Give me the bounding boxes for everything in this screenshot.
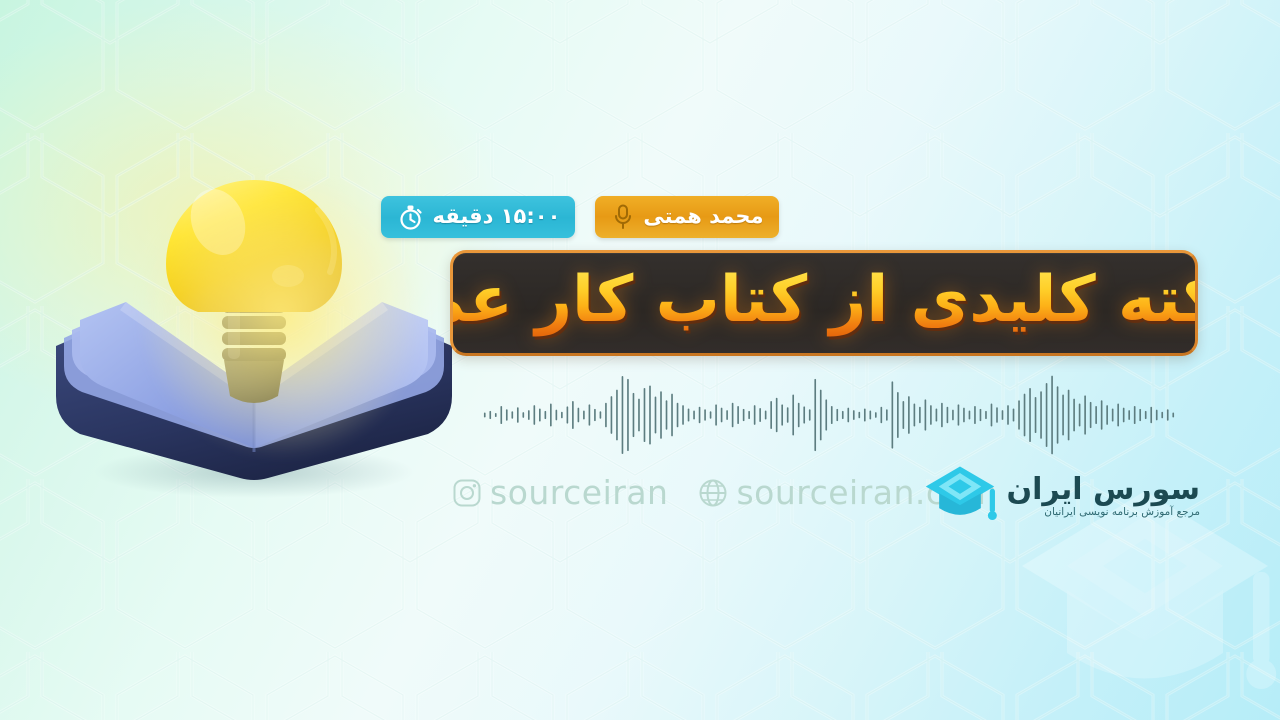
microphone-icon	[612, 204, 634, 231]
hexagon-honeycomb-pattern	[0, 0, 1280, 720]
instagram-handle[interactable]: sourceiran	[452, 476, 668, 509]
brand-logo[interactable]: سورس ایران مرجع آموزش برنامه نویسی ایران…	[922, 462, 1200, 530]
brand-tagline: مرجع آموزش برنامه نویسی ایرانیان	[1044, 507, 1200, 518]
globe-icon	[698, 478, 728, 508]
duration-label: ۱۵:۰۰ دقیقه	[432, 206, 560, 229]
audio-waveform	[482, 372, 1176, 458]
brand-name: سورس ایران	[1006, 475, 1200, 505]
speaker-badge[interactable]: محمد همتی	[595, 196, 778, 238]
instagram-icon	[452, 478, 482, 508]
instagram-label: sourceiran	[490, 476, 668, 509]
social-footer: sourceiran sourceiran.com	[452, 476, 998, 509]
episode-title-panel: ۶ نکته کلیدی از کتاب کار عمیق	[450, 250, 1198, 356]
brand-text-block: سورس ایران مرجع آموزش برنامه نویسی ایران…	[1006, 475, 1200, 518]
speaker-name: محمد همتی	[643, 206, 763, 229]
duration-badge[interactable]: ۱۵:۰۰ دقیقه	[381, 196, 575, 238]
badge-row: محمد همتی ۱۵:۰۰ دقیقه	[0, 196, 1280, 238]
episode-title: ۶ نکته کلیدی از کتاب کار عمیق	[450, 268, 1198, 338]
thumbnail-canvas: محمد همتی ۱۵:۰۰ دقیقه ۶ نکته کلیدی از کت…	[0, 0, 1280, 720]
graduation-cap-icon	[922, 462, 998, 530]
stopwatch-icon	[398, 204, 423, 231]
